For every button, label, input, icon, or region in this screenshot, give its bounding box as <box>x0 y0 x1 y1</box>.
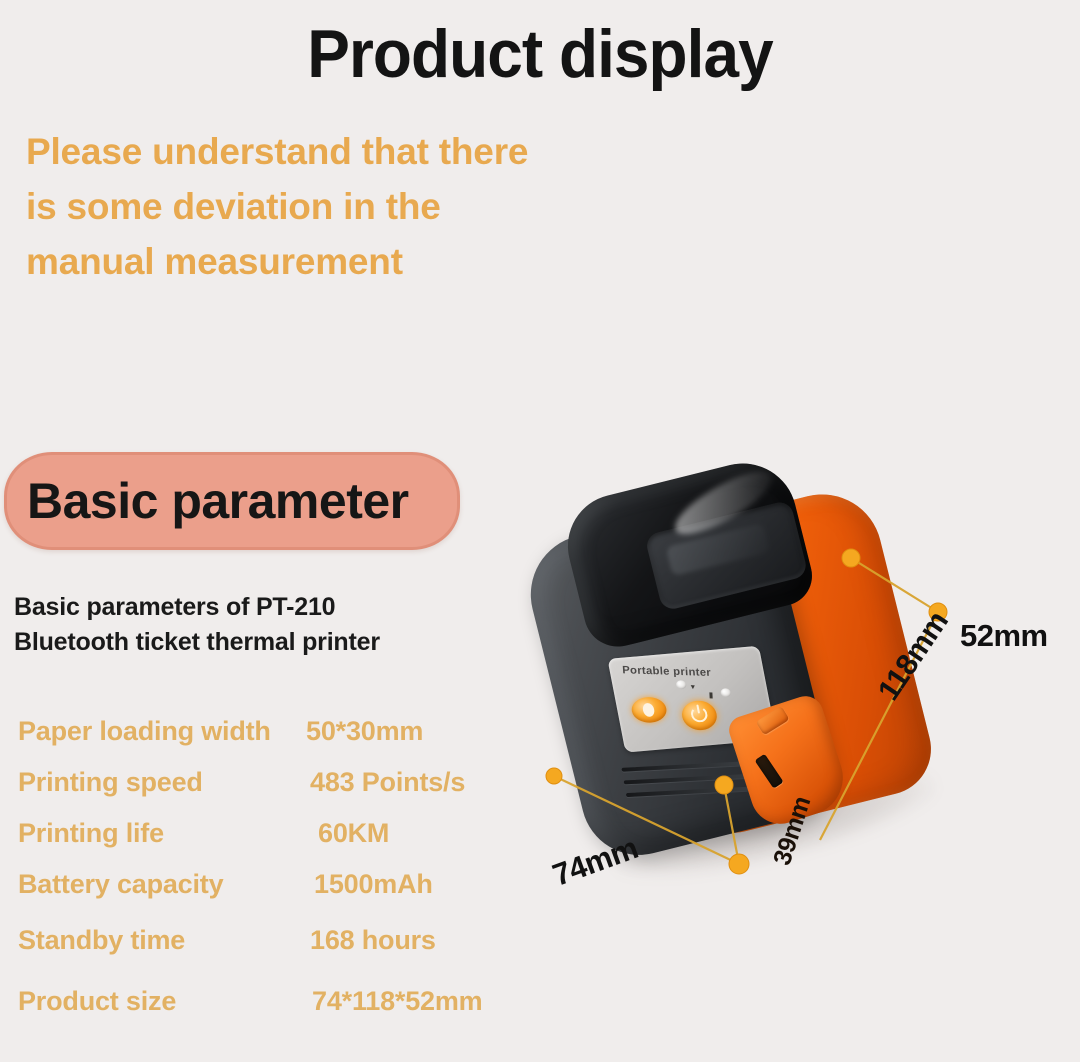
battery-icon: ▮ <box>709 691 714 700</box>
power-button[interactable] <box>679 699 719 731</box>
usb-port <box>755 754 784 789</box>
dimension-label-height: 52mm <box>960 618 1048 654</box>
spec-label: Printing life <box>18 816 164 850</box>
spec-row: Printing speed 483 Points/s <box>18 765 538 816</box>
cover-latch[interactable] <box>756 706 790 735</box>
product-display-page: Product display Please understand that t… <box>0 0 1080 1062</box>
spec-row: Printing life 60KM <box>18 816 538 867</box>
spec-row: Product size 74*118*52mm <box>18 984 538 1045</box>
page-title: Product display <box>32 14 1047 94</box>
spec-value: 60KM <box>318 816 389 850</box>
spec-value: 1500mAh <box>314 867 433 901</box>
spec-label: Paper loading width <box>18 714 271 748</box>
product-photo: Portable printer ▾ ▮ PT-210 <box>520 440 1080 940</box>
spec-label: Standby time <box>18 923 185 957</box>
product-description: Basic parameters of PT-210 Bluetooth tic… <box>14 590 380 660</box>
vent-slot <box>626 787 749 797</box>
spec-value: 168 hours <box>310 923 436 957</box>
vent-slot <box>624 774 753 785</box>
deviation-notice-line-2: is some deviation in the <box>26 179 666 234</box>
wifi-led-indicator <box>675 680 687 690</box>
deviation-notice-line-1: Please understand that there <box>26 124 666 179</box>
wifi-icon: ▾ <box>691 682 696 691</box>
power-led-indicator <box>720 688 732 698</box>
basic-parameter-label: Basic parameter <box>7 473 409 529</box>
product-description-line-2: Bluetooth ticket thermal printer <box>14 625 380 660</box>
spec-value: 50*30mm <box>306 714 423 748</box>
panel-brand-text: Portable printer <box>622 664 712 678</box>
spec-row: Battery capacity 1500mAh <box>18 867 538 923</box>
deviation-notice: Please understand that there is some dev… <box>26 124 666 289</box>
product-description-line-1: Basic parameters of PT-210 <box>14 590 380 625</box>
paper-feed-button[interactable] <box>629 696 668 724</box>
spec-row: Standby time 168 hours <box>18 923 538 984</box>
spec-label: Printing speed <box>18 765 203 799</box>
specification-list: Paper loading width 50*30mm Printing spe… <box>18 714 538 1045</box>
basic-parameter-badge: Basic parameter <box>4 452 460 550</box>
spec-value: 74*118*52mm <box>312 984 482 1018</box>
spec-label: Battery capacity <box>18 867 223 901</box>
spec-row: Paper loading width 50*30mm <box>18 714 538 765</box>
spec-label: Product size <box>18 984 176 1018</box>
spec-value: 483 Points/s <box>310 765 465 799</box>
deviation-notice-line-3: manual measurement <box>26 234 666 289</box>
